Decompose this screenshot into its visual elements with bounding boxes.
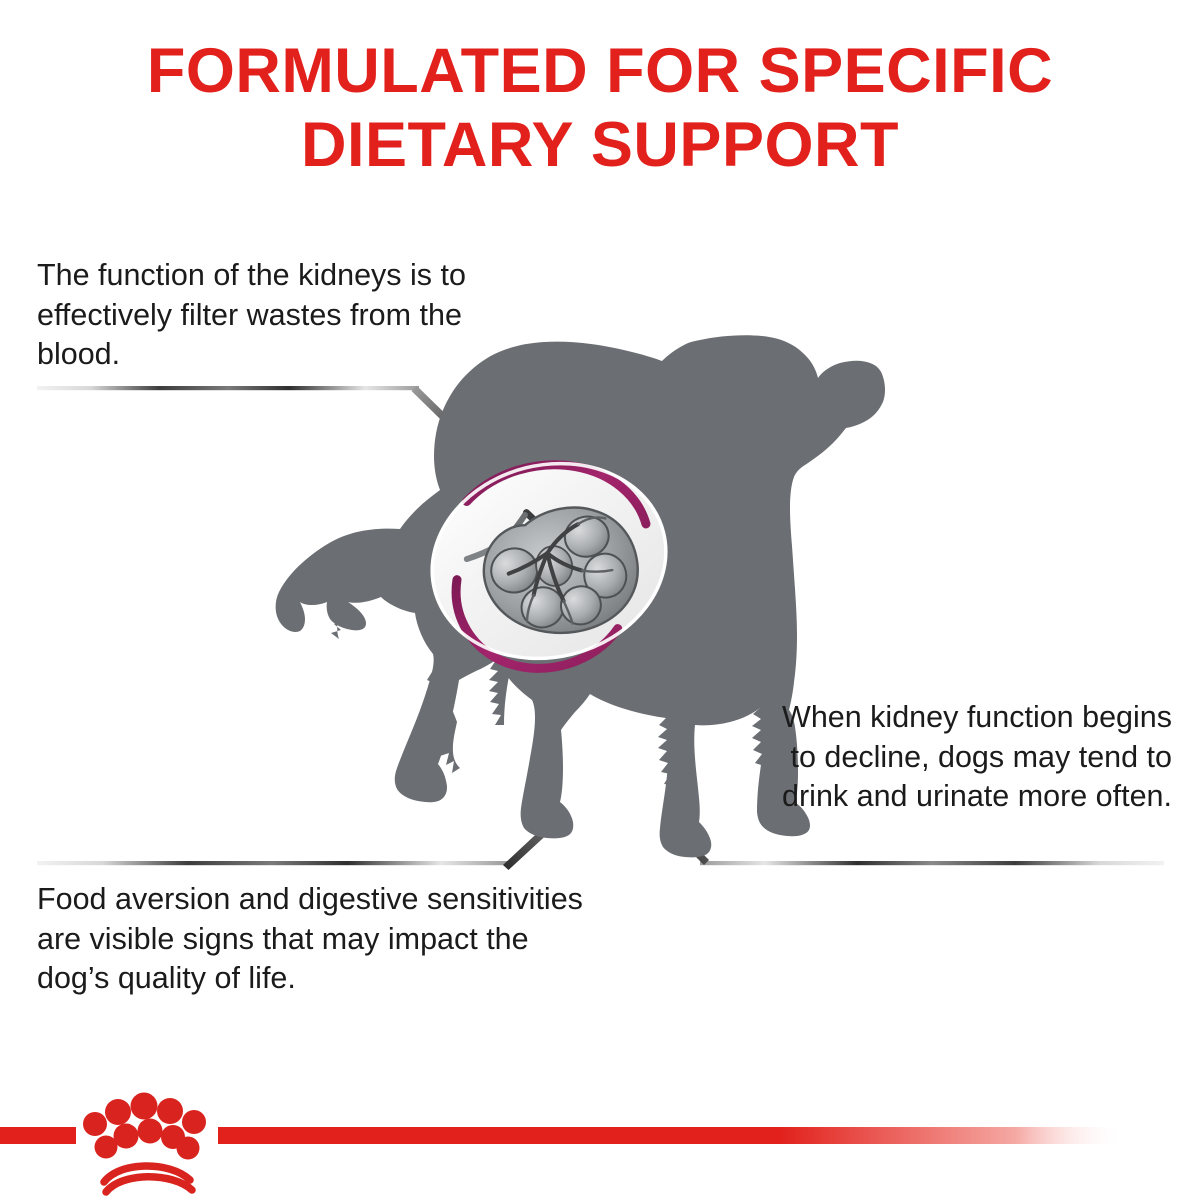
callout-food-aversion: Food aversion and digestive sensitivitie… <box>37 880 597 999</box>
connector-bottom-left <box>37 823 553 870</box>
footer-rule-left <box>0 1127 76 1144</box>
connector-top-left <box>37 386 462 436</box>
illustration-artwork <box>0 0 1200 1200</box>
infographic-canvas: FORMULATED FOR SPECIFIC DIETARY SUPPORT <box>0 0 1200 1200</box>
royal-canin-crown-logo <box>83 1093 206 1193</box>
callout-kidney-decline: When kidney function begins to decline, … <box>760 698 1172 817</box>
connector-bottom-right <box>662 818 1164 865</box>
footer-rule-right <box>218 1127 1124 1144</box>
footer-branding <box>0 1093 1124 1193</box>
callout-kidney-function: The function of the kidneys is to effect… <box>37 256 507 375</box>
